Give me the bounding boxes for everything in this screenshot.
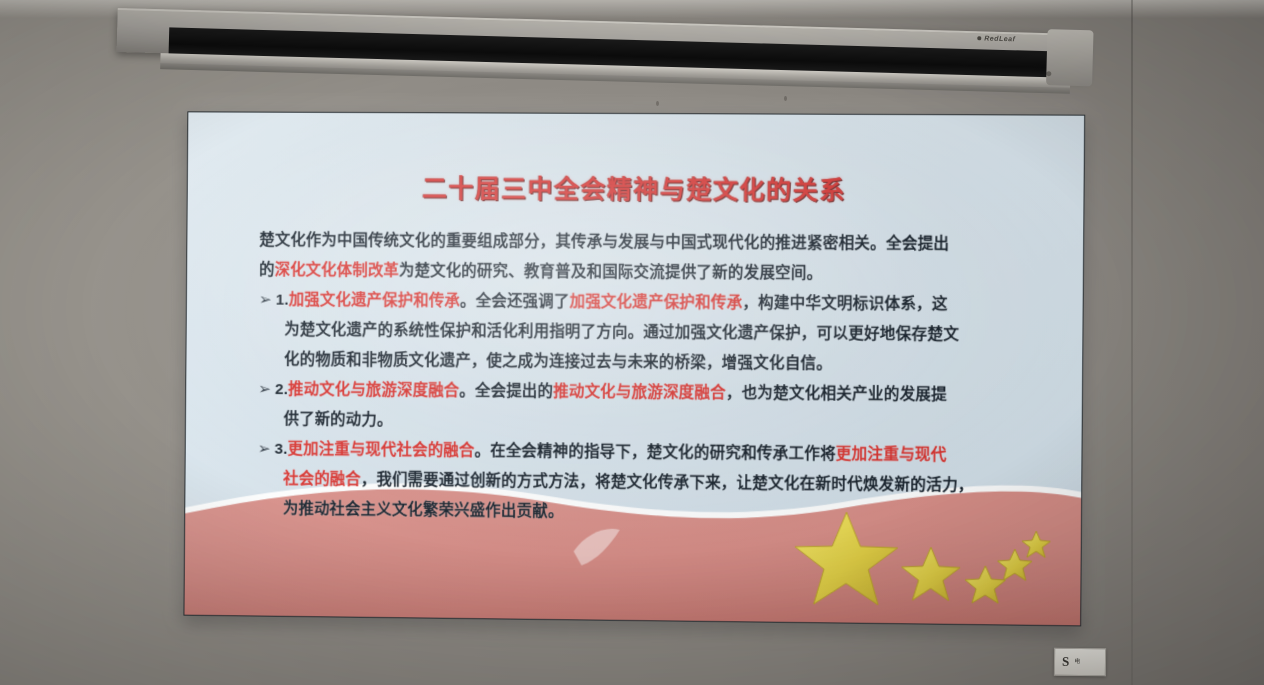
brand-text: RedLeaf <box>984 35 1015 43</box>
slide-body-text: 楚文化作为中国传统文化的重要组成部分，其传承与发展与中国式现代化的推进紧密相关。… <box>257 226 1029 532</box>
text-segment: 3. <box>274 441 287 458</box>
text-segment: 。在全会精神的指导下，楚文化的研究和传承工作将 <box>474 443 835 463</box>
highlight-phrase: 更加注重与现代 <box>836 446 947 464</box>
slide-canvas: 二十届三中全会精神与楚文化的关系 楚文化作为中国传统文化的重要组成部分，其传承与… <box>183 111 1085 626</box>
wall-blemish <box>656 101 659 106</box>
highlight-phrase: 推动文化与旅游深度融合 <box>288 381 459 399</box>
slide-title: 二十届三中全会精神与楚文化的关系 <box>188 168 1086 208</box>
text-segment: ，也为楚文化相关产业的发展提 <box>726 385 947 404</box>
star-medium <box>901 547 960 601</box>
highlight-phrase: 社会的融合 <box>283 471 361 489</box>
text-segment: 1. <box>276 292 289 309</box>
classroom-scene: RedLeaf <box>0 0 1264 685</box>
text-segment: 为楚文化的研究、教育普及和国际交流提供了新的发展空间。 <box>399 263 823 283</box>
text-segment: 的 <box>259 262 275 279</box>
casing-screw-icon <box>1046 71 1051 76</box>
text-segment: 化的物质和非物质文化遗产，使之成为连接过去与未来的桥梁，增强文化自信。 <box>284 351 832 372</box>
text-segment: 2. <box>275 381 288 398</box>
wall-blemish <box>784 96 787 101</box>
sticker-glyph: S <box>1062 654 1069 670</box>
slide-text-line: 楚文化作为中国传统文化的重要组成部分，其传承与发展与中国式现代化的推进紧密相关。… <box>259 226 1029 261</box>
highlight-phrase: 加强文化遗产保护和传承 <box>289 292 460 310</box>
bullet-arrow-icon: ➢ <box>258 375 275 405</box>
text-segment: 供了新的动力。 <box>284 411 393 429</box>
bullet-arrow-icon: ➢ <box>259 286 276 316</box>
projected-slide[interactable]: 二十届三中全会精神与楚文化的关系 楚文化作为中国传统文化的重要组成部分，其传承与… <box>183 111 1085 626</box>
bullet-arrow-icon: ➢ <box>258 435 275 465</box>
casing-brand-label: RedLeaf <box>977 35 1015 43</box>
wall-sticker-label: S 电 <box>1054 648 1106 677</box>
wall-seam <box>1131 0 1133 685</box>
star-small-2 <box>997 549 1032 581</box>
highlight-phrase: 更加注重与现代社会的融合 <box>288 441 475 460</box>
text-segment: 。全会提出的 <box>459 383 553 401</box>
text-segment: ，构建中华文明标识体系，这 <box>742 295 948 313</box>
text-segment: 楚文化作为中国传统文化的重要组成部分，其传承与发展与中国式现代化的推进紧密相关。… <box>259 232 949 253</box>
casing-end-cap <box>1046 29 1093 86</box>
text-segment: 。全会还强调了 <box>460 293 570 311</box>
sticker-subtext: 电 <box>1074 659 1080 665</box>
star-small-1 <box>965 566 1006 604</box>
star-small-3 <box>1022 531 1051 557</box>
highlight-phrase: 加强文化遗产保护和传承 <box>569 294 742 312</box>
text-segment: 为楚文化遗产的系统性保护和活化利用指明了方向。通过加强文化遗产保护，可以更好地保… <box>284 322 959 344</box>
text-segment: 为推动社会主义文化繁荣兴盛作出贡献。 <box>283 500 564 520</box>
highlight-phrase: 深化文化体制改革 <box>275 262 399 280</box>
highlight-phrase: 推动文化与旅游深度融合 <box>553 383 726 401</box>
brand-dot-icon <box>977 36 981 40</box>
text-segment: ，我们需要通过创新的方式方法，将楚文化传承下来，让楚文化在新时代焕发新的活力， <box>361 471 974 494</box>
